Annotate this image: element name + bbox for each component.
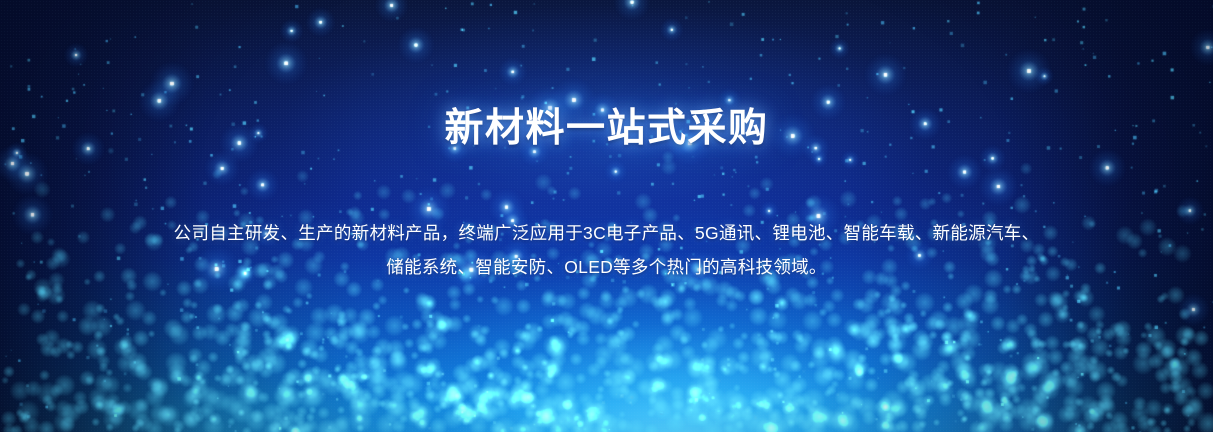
page-title: 新材料一站式采购 — [0, 107, 1213, 151]
banner-description: 公司自主研发、生产的新材料产品，终端广泛应用于3C电子产品、5G通讯、锂电池、智… — [0, 216, 1213, 284]
banner-content: 新材料一站式采购 公司自主研发、生产的新材料产品，终端广泛应用于3C电子产品、5… — [0, 0, 1213, 432]
hero-banner: 新材料一站式采购 公司自主研发、生产的新材料产品，终端广泛应用于3C电子产品、5… — [0, 0, 1213, 432]
banner-description-line-2: 储能系统、智能安防、OLED等多个热门的高科技领域。 — [0, 250, 1213, 284]
banner-description-line-1: 公司自主研发、生产的新材料产品，终端广泛应用于3C电子产品、5G通讯、锂电池、智… — [0, 216, 1213, 250]
